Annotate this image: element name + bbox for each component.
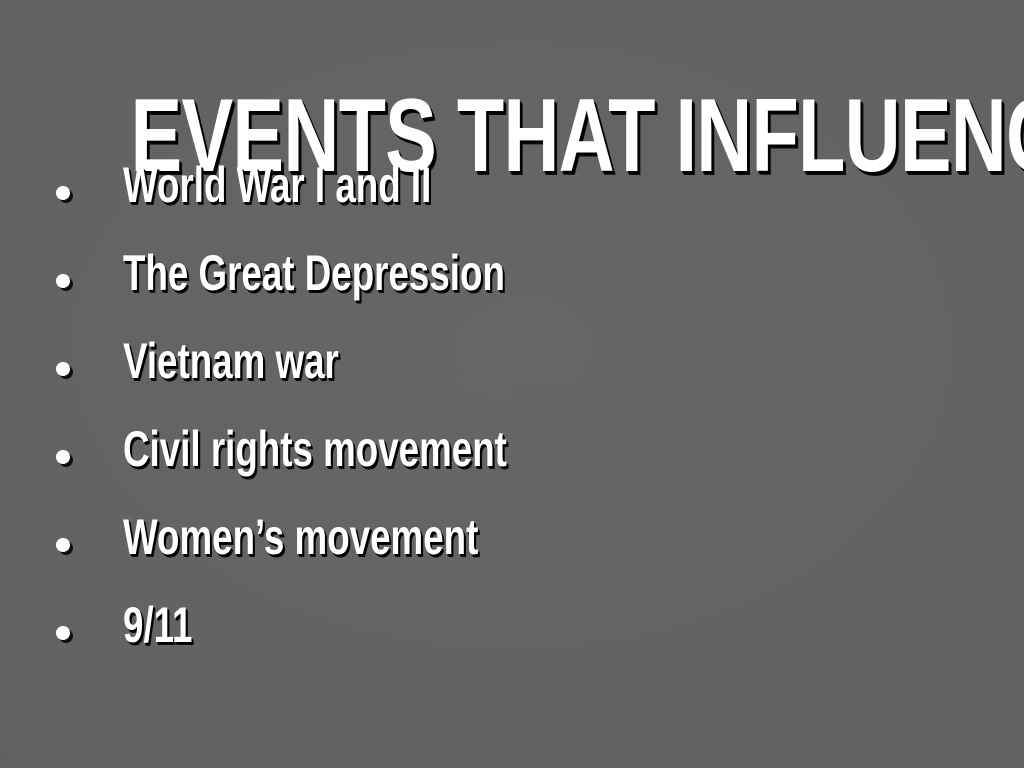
list-item: Women’s movement [0,508,1024,596]
list-item-label: Women’s movement [123,512,478,562]
list-item: Vietnam war [0,332,1024,420]
bullet-point-icon [56,186,70,200]
bullet-point-icon [56,362,70,376]
list-item-label: 9/11 [123,600,193,650]
list-item: World War I and II [0,156,1024,244]
bullet-point-icon [56,274,70,288]
bullet-point-icon [56,626,70,640]
bullet-list: World War I and II The Great Depression … [0,156,1024,684]
presentation-slide: EVENTS THAT INFLUENCED World War I and I… [0,0,1024,768]
list-item-label: The Great Depression [123,248,505,298]
list-item: The Great Depression [0,244,1024,332]
list-item-label: World War I and II [123,160,431,210]
list-item: Civil rights movement [0,420,1024,508]
bullet-point-icon [56,450,70,464]
bullet-point-icon [56,538,70,552]
list-item-label: Civil rights movement [123,424,507,474]
list-item: 9/11 [0,596,1024,684]
list-item-label: Vietnam war [123,336,339,386]
